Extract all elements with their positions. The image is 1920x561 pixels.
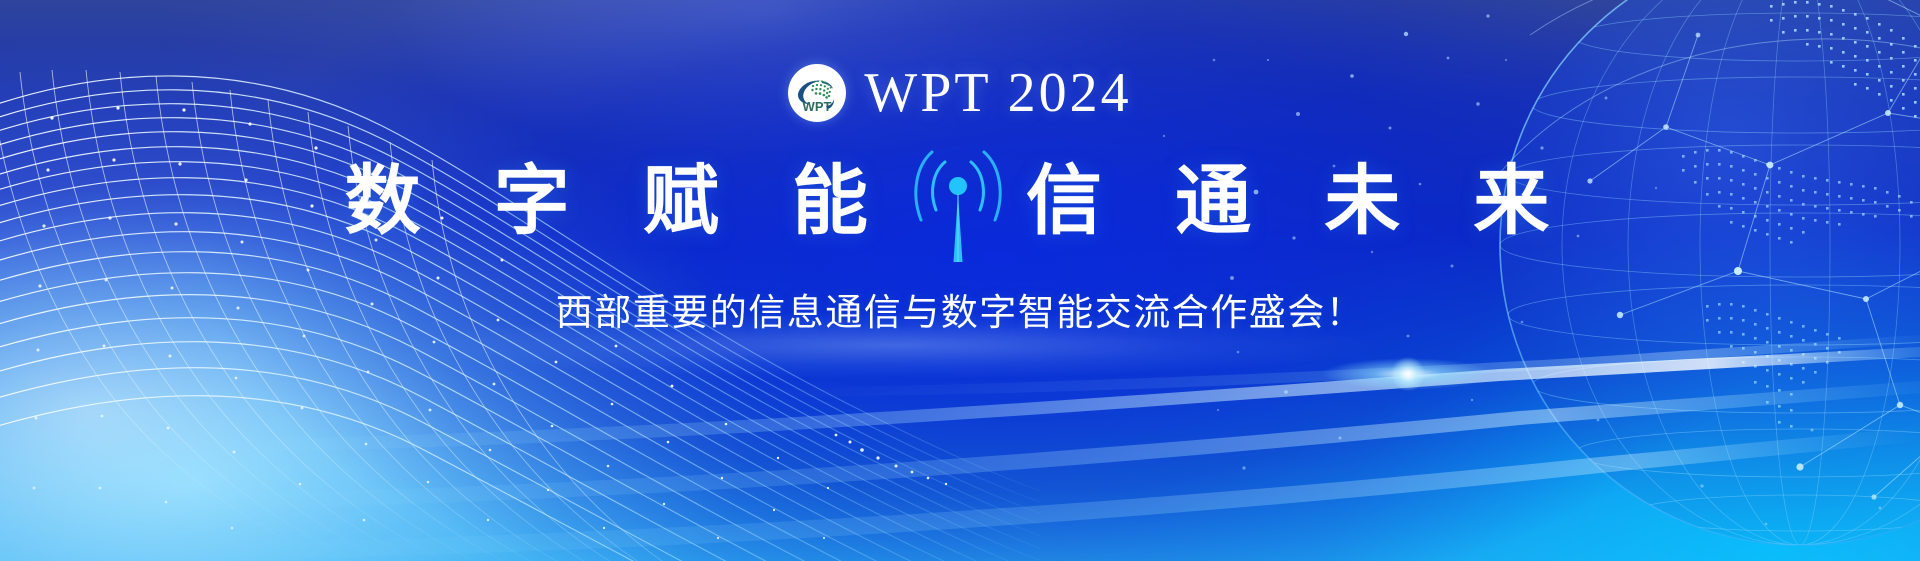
- brand-lockup: WPT WPT 2024: [788, 62, 1131, 124]
- headline-left: 数 字 赋 能: [345, 164, 896, 240]
- headline-row: 数 字 赋 能: [345, 148, 1576, 256]
- brand-wordmark: WPT 2024: [864, 65, 1131, 121]
- signal-tower-icon: [906, 134, 1010, 266]
- wpt-2024-event-banner: WPT WPT 2024 数 字 赋 能: [0, 0, 1920, 561]
- wpt-satellite-logo-icon: WPT: [788, 64, 846, 122]
- banner-content: WPT WPT 2024 数 字 赋 能: [0, 0, 1920, 561]
- headline-right: 信 通 未 来: [1014, 164, 1575, 240]
- event-subtitle: 西部重要的信息通信与数字智能交流合作盛会！: [556, 282, 1365, 336]
